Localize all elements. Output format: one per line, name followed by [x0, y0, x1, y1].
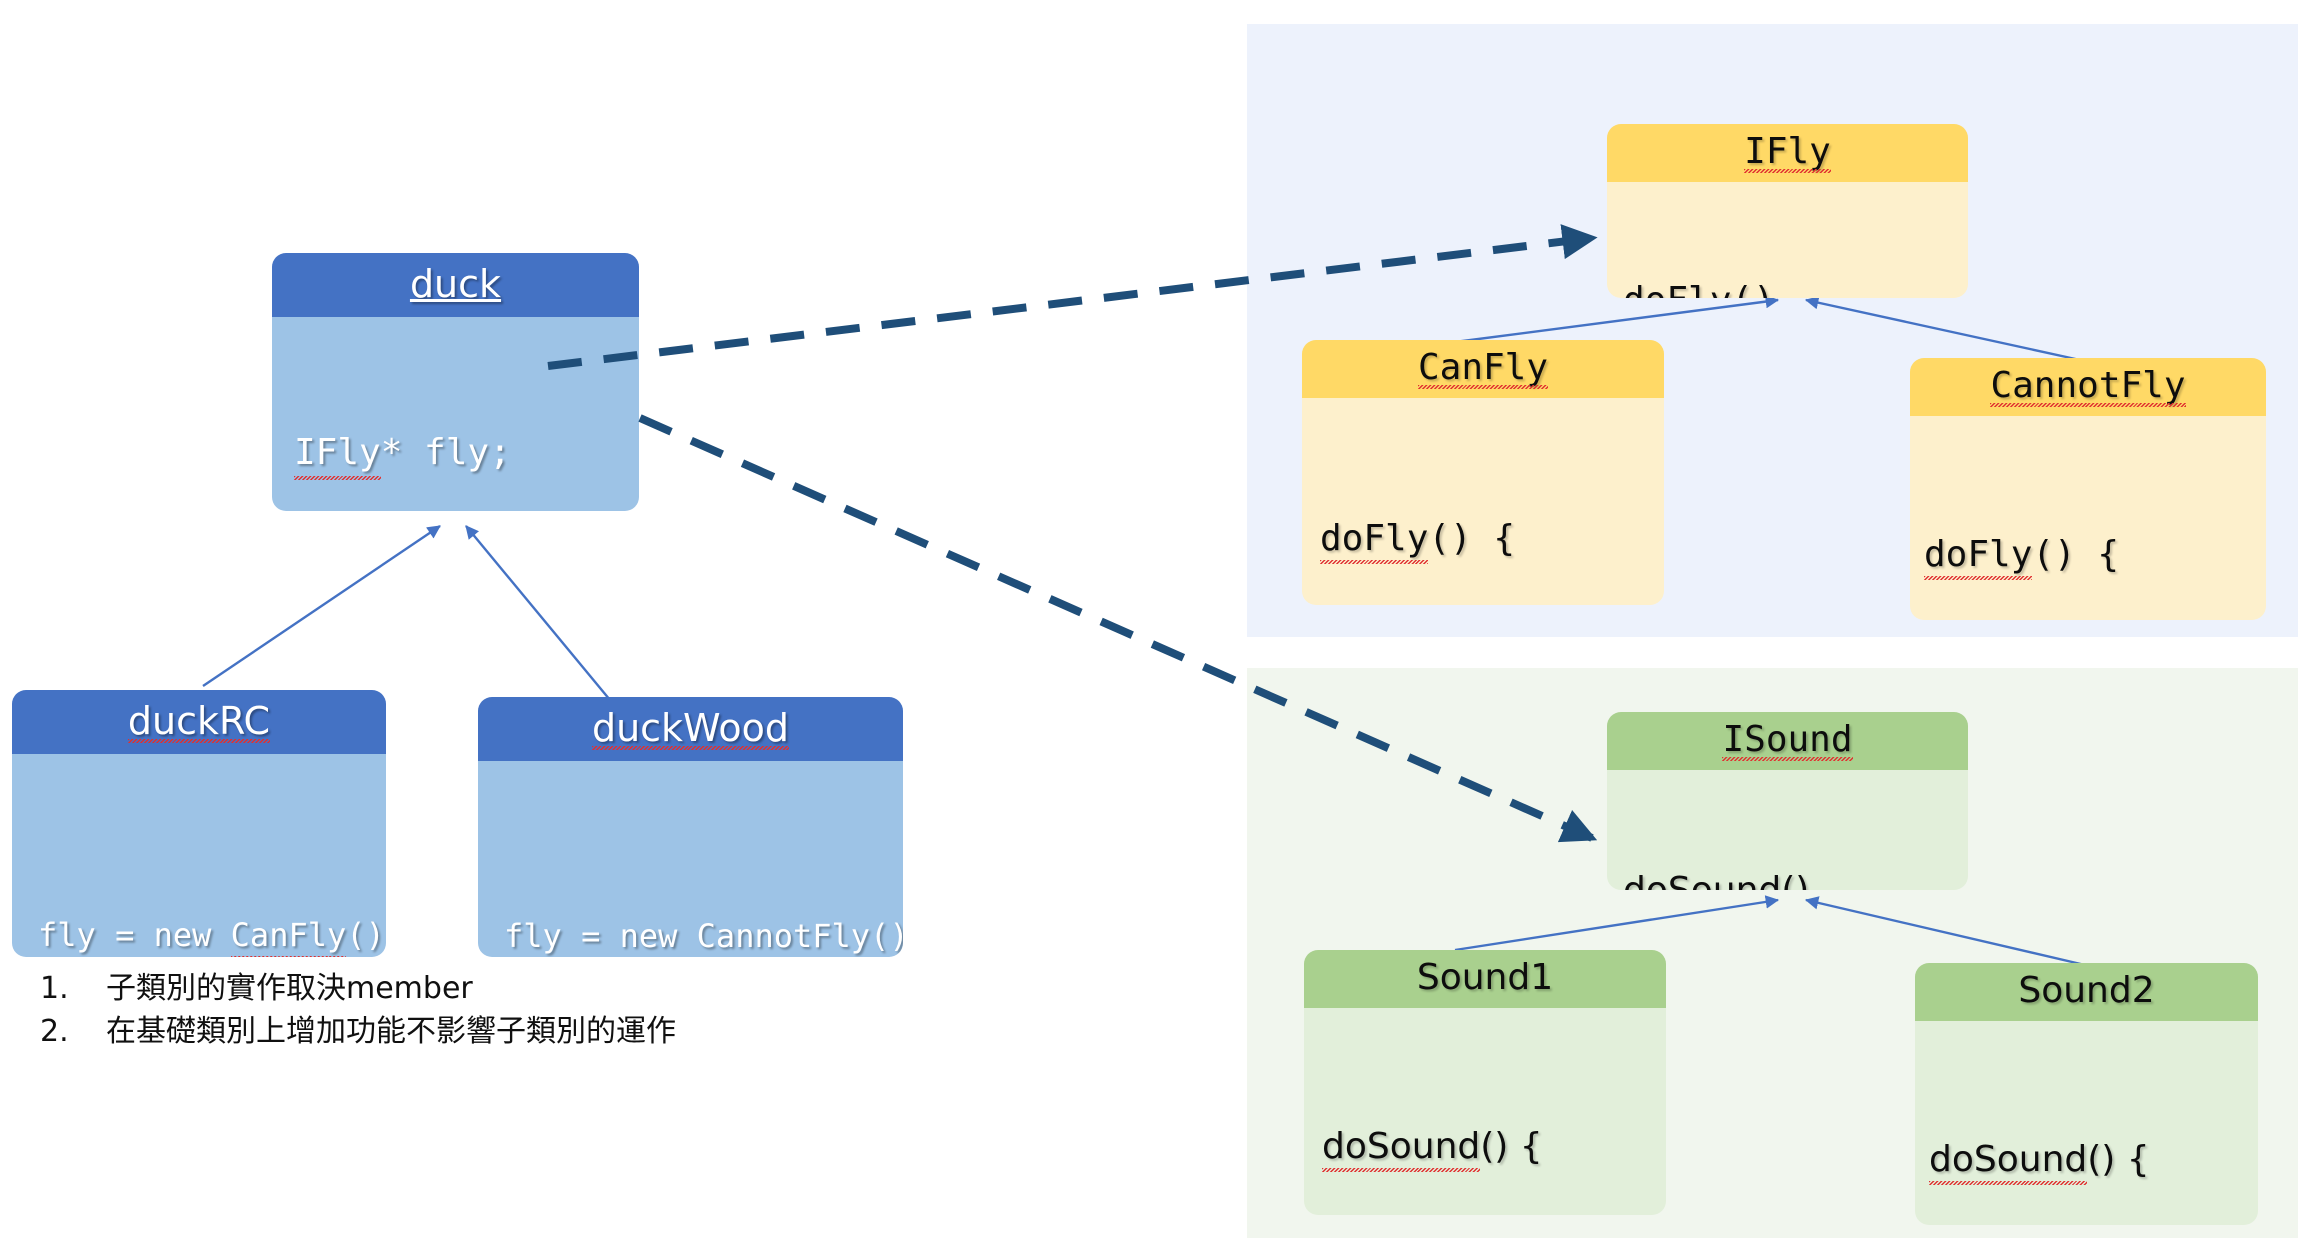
class-box-duckWood[interactable]: duckWood fly = new CannotFly() [478, 697, 903, 957]
class-title-duckWood: duckWood [478, 697, 903, 761]
spell-error-CanFly: CanFly [231, 915, 347, 957]
spell-error-doFly: doFly [1924, 532, 2032, 577]
class-box-duckRC[interactable]: duckRC fly = new CanFly() [12, 690, 386, 957]
note-text: 子類別的實作取決member [106, 968, 473, 1011]
class-title-Sound2: Sound2 [1915, 963, 2258, 1021]
member-line: doSound() { [1929, 1137, 2258, 1182]
class-title-IFly: IFly [1607, 124, 1968, 182]
class-members-CanFly: doFly() { “Can fly” } [1302, 398, 1664, 605]
class-box-Sound1[interactable]: Sound1 doSound() { “Sound1” } [1304, 950, 1666, 1215]
class-members-ISound: doSound() … [1607, 770, 1968, 890]
spell-error-doSound: doSound [1623, 868, 1781, 890]
list-item: 2. 在基礎類別上增加功能不影響子類別的運作 [40, 1011, 676, 1054]
spell-error-doSound: doSound [1929, 1137, 2087, 1182]
duckWood-inherits-duck [466, 526, 610, 700]
spell-error-CanFly-title: CanFly [1418, 350, 1548, 386]
note-number: 2. [40, 1011, 106, 1054]
class-box-Sound2[interactable]: Sound2 doSound() { “Sound2” } [1915, 963, 2258, 1225]
member-line: doSound() [1623, 868, 1968, 890]
class-title-duck: duck [272, 253, 639, 317]
list-item: 1. 子類別的實作取決member [40, 968, 676, 1011]
class-title-Sound1: Sound1 [1304, 950, 1666, 1008]
class-members-duck: IFly* fly; Isound* sound; … [272, 317, 639, 511]
spell-error-CannotFly: CannotFly [697, 916, 870, 957]
notes-list: 1. 子類別的實作取決member 2. 在基礎類別上增加功能不影響子類別的運作 [40, 968, 676, 1053]
diagram-canvas: duck IFly* fly; Isound* sound; … duckRC … [0, 0, 2318, 1258]
class-title-CanFly: CanFly [1302, 340, 1664, 398]
member-line: doFly() [1623, 278, 1968, 298]
note-text: 在基礎類別上增加功能不影響子類別的運作 [106, 1011, 676, 1054]
class-title-CannotFly: CannotFly [1910, 358, 2266, 416]
spell-error-doFly: doFly [1623, 278, 1731, 298]
class-members-CannotFly: doFly() { “Cannot fly” } [1910, 416, 2266, 620]
class-title-duckRC: duckRC [12, 690, 386, 754]
spell-error-duckWood: duckWood [592, 709, 789, 747]
class-members-Sound2: doSound() { “Sound2” } [1915, 1021, 2258, 1225]
member-line: doFly() { [1924, 532, 2266, 577]
class-members-duckRC: fly = new CanFly() [12, 754, 386, 957]
spell-error-ISound-title: ISound [1722, 722, 1852, 758]
duckRC-inherits-duck [203, 526, 440, 686]
class-members-IFly: doFly() … [1607, 182, 1968, 298]
spell-error-CannotFly-title: CannotFly [1990, 368, 2185, 404]
member-line: doSound() { [1322, 1124, 1666, 1169]
class-box-ISound[interactable]: ISound doSound() … [1607, 712, 1968, 890]
note-number: 1. [40, 968, 106, 1011]
spell-error-IFly: IFly [294, 429, 381, 477]
class-box-CanFly[interactable]: CanFly doFly() { “Can fly” } [1302, 340, 1664, 605]
class-title-ISound: ISound [1607, 712, 1968, 770]
member-line: fly = new CannotFly() [504, 916, 903, 957]
member-line: fly = new CanFly() [38, 915, 386, 957]
spell-error-duckRC: duckRC [128, 702, 270, 740]
class-box-duck[interactable]: duck IFly* fly; Isound* sound; … [272, 253, 639, 511]
member-line: doFly() { [1320, 516, 1664, 561]
spell-error-IFly-title: IFly [1744, 134, 1831, 170]
class-members-duckWood: fly = new CannotFly() [478, 761, 903, 957]
class-box-IFly[interactable]: IFly doFly() … [1607, 124, 1968, 298]
class-members-Sound1: doSound() { “Sound1” } [1304, 1008, 1666, 1215]
spell-error-doSound: doSound [1322, 1124, 1480, 1169]
member-line: IFly* fly; [294, 429, 639, 477]
spell-error-doFly: doFly [1320, 516, 1428, 561]
class-box-CannotFly[interactable]: CannotFly doFly() { “Cannot fly” } [1910, 358, 2266, 620]
